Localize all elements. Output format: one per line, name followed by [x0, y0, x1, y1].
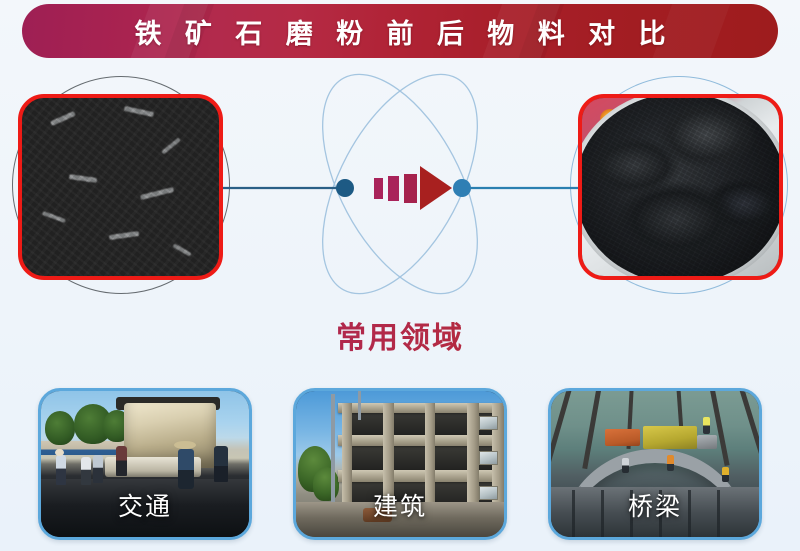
- process-arrow-icon: [374, 166, 452, 210]
- card-label-building: 建筑: [296, 487, 504, 523]
- header-banner: 铁 矿 石 磨 粉 前 后 物 料 对 比: [22, 4, 778, 58]
- application-cards: 交通: [0, 388, 800, 551]
- card-label-transportation: 交通: [41, 487, 249, 523]
- page-root: 铁 矿 石 磨 粉 前 后 物 料 对 比: [0, 0, 800, 551]
- card-transportation[interactable]: 交通: [38, 388, 252, 540]
- bowl-shape: [582, 98, 779, 276]
- card-building[interactable]: 建筑: [293, 388, 507, 540]
- before-image-frame[interactable]: [18, 94, 223, 280]
- connector-node-right: [453, 179, 471, 197]
- card-label-bridge: 桥梁: [551, 487, 759, 523]
- before-image: [22, 98, 219, 276]
- page-title: 铁 矿 石 磨 粉 前 后 物 料 对 比: [22, 4, 778, 58]
- iron-ore-powder-graphic: [582, 98, 779, 276]
- powder-fill: [582, 98, 779, 276]
- connector-node-left: [336, 179, 354, 197]
- after-image-frame[interactable]: [578, 94, 783, 280]
- comparison-section: [0, 58, 800, 310]
- crossing-ellipses-icon: [291, 58, 510, 310]
- after-image: [582, 98, 779, 276]
- section-heading: 常用领域: [0, 313, 800, 357]
- card-bridge[interactable]: 桥梁: [548, 388, 762, 540]
- iron-ore-rocks-graphic: [22, 98, 219, 276]
